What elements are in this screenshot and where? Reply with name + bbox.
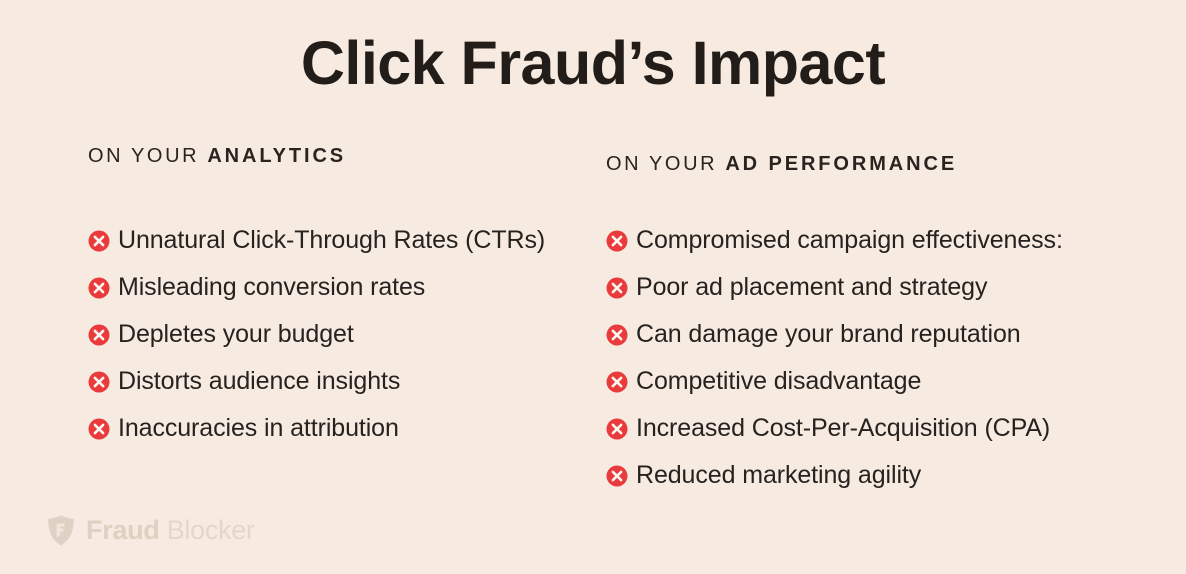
list-item: Unnatural Click-Through Rates (CTRs) <box>88 226 598 273</box>
x-circle-icon <box>606 324 628 346</box>
x-circle-icon <box>606 371 628 393</box>
column-analytics: ON YOUR ANALYTICS Unnatural Click-Throug… <box>88 146 598 461</box>
list-item: Competitive disadvantage <box>606 367 1151 414</box>
x-circle-icon <box>88 371 110 393</box>
column-heading-emphasis: ANALYTICS <box>207 145 346 167</box>
list-item-label: Depletes your budget <box>118 320 354 349</box>
brand-logo-text: Fraud Blocker <box>86 517 255 544</box>
list-item: Inaccuracies in attribution <box>88 414 598 461</box>
x-circle-icon <box>88 418 110 440</box>
column-heading-emphasis: AD PERFORMANCE <box>725 153 957 175</box>
brand-logo: Fraud Blocker <box>46 510 255 550</box>
x-circle-icon <box>88 277 110 299</box>
list-item-label: Can damage your brand reputation <box>636 320 1021 349</box>
column-ad-performance: ON YOUR AD PERFORMANCE Compromised campa… <box>606 154 1151 508</box>
list-item-label: Compromised campaign effectiveness: <box>636 226 1063 255</box>
x-circle-icon <box>606 465 628 487</box>
list-item: Misleading conversion rates <box>88 273 598 320</box>
list-item: Distorts audience insights <box>88 367 598 414</box>
x-circle-icon <box>88 324 110 346</box>
list-item-label: Reduced marketing agility <box>636 461 921 490</box>
list-item-label: Increased Cost-Per-Acquisition (CPA) <box>636 414 1050 443</box>
brand-logo-word-secondary: Blocker <box>160 515 255 545</box>
column-heading-ad-performance: ON YOUR AD PERFORMANCE <box>606 154 1151 174</box>
list-item-label: Competitive disadvantage <box>636 367 921 396</box>
list-item-label: Unnatural Click-Through Rates (CTRs) <box>118 226 545 255</box>
list-item-label: Misleading conversion rates <box>118 273 425 302</box>
bullet-list-analytics: Unnatural Click-Through Rates (CTRs) Mis… <box>88 166 598 461</box>
list-item: Can damage your brand reputation <box>606 320 1151 367</box>
bullet-list-ad-performance: Compromised campaign effectiveness: Poor… <box>606 174 1151 508</box>
list-item: Compromised campaign effectiveness: <box>606 226 1151 273</box>
brand-logo-word-primary: Fraud <box>86 515 160 545</box>
list-item-label: Inaccuracies in attribution <box>118 414 399 443</box>
column-heading-prefix: ON YOUR <box>88 145 207 167</box>
shield-f-icon <box>46 514 76 547</box>
x-circle-icon <box>606 277 628 299</box>
list-item: Increased Cost-Per-Acquisition (CPA) <box>606 414 1151 461</box>
list-item-label: Poor ad placement and strategy <box>636 273 987 302</box>
slide-canvas: Click Fraud’s Impact ON YOUR ANALYTICS U… <box>0 0 1186 574</box>
x-circle-icon <box>606 418 628 440</box>
list-item-label: Distorts audience insights <box>118 367 400 396</box>
list-item: Poor ad placement and strategy <box>606 273 1151 320</box>
column-heading-analytics: ON YOUR ANALYTICS <box>88 146 598 166</box>
column-heading-prefix: ON YOUR <box>606 153 725 175</box>
list-item: Depletes your budget <box>88 320 598 367</box>
x-circle-icon <box>88 230 110 252</box>
x-circle-icon <box>606 230 628 252</box>
list-item: Reduced marketing agility <box>606 461 1151 508</box>
page-title: Click Fraud’s Impact <box>0 27 1186 100</box>
